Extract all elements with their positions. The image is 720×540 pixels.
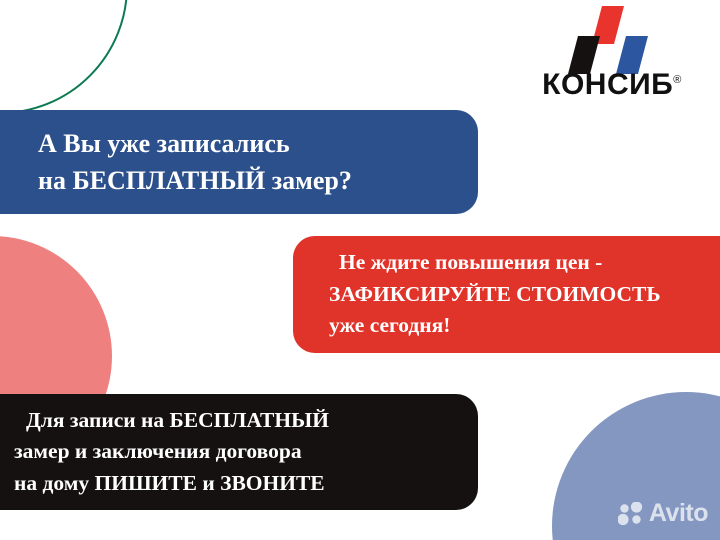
brand-logo: КОНСИБ® — [512, 6, 712, 110]
banner-black: Для записи на БЕСПЛАТНЫЙ замер и заключе… — [0, 394, 478, 510]
logo-mark-icon — [568, 6, 652, 74]
avito-watermark-label: Avito — [649, 501, 708, 526]
banner-red-line-2: ЗАФИКСИРУЙТЕ СТОИМОСТЬ — [329, 279, 720, 310]
banner-blue: А Вы уже записались на БЕСПЛАТНЫЙ замер? — [0, 110, 478, 214]
banner-black-line-2: замер и заключения договора — [14, 436, 478, 468]
registered-trademark-icon: ® — [673, 74, 682, 86]
green-ring-decoration — [0, 0, 128, 114]
banner-blue-line-1: А Вы уже записались — [38, 125, 478, 162]
logo-wordmark: КОНСИБ® — [512, 68, 712, 102]
banner-blue-line-2: на БЕСПЛАТНЫЙ замер? — [38, 162, 478, 199]
avito-watermark: Avito — [618, 501, 708, 526]
banner-red: Не ждите повышения цен - ЗАФИКСИРУЙТЕ СТ… — [293, 236, 720, 353]
poster-canvas: КОНСИБ® А Вы уже записались на БЕСПЛАТНЫ… — [0, 0, 720, 540]
banner-black-line-3: на дому ПИШИТЕ и ЗВОНИТЕ — [14, 468, 478, 500]
banner-red-line-3: уже сегодня! — [329, 310, 720, 341]
avito-dots-icon — [618, 502, 644, 526]
banner-black-line-1: Для записи на БЕСПЛАТНЫЙ — [14, 405, 478, 437]
logo-wordmark-text: КОНСИБ — [542, 68, 673, 101]
banner-red-line-1: Не ждите повышения цен - — [329, 247, 720, 278]
